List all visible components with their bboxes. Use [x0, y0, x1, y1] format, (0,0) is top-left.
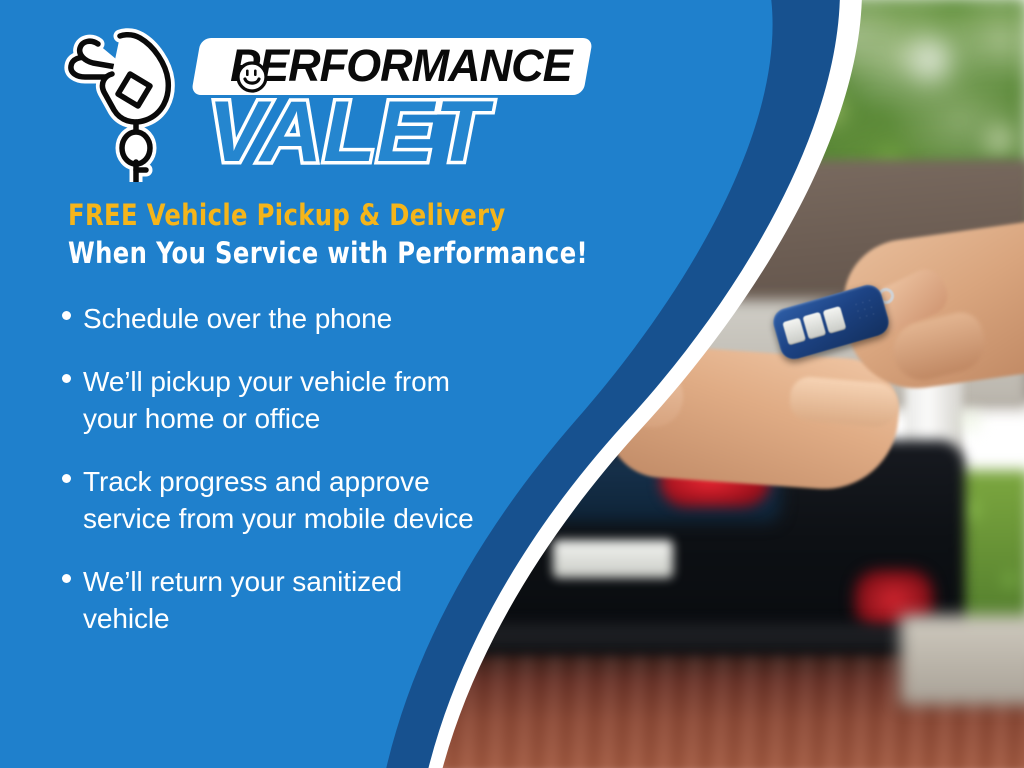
- bullet-dot-icon: [62, 374, 71, 383]
- list-item: Track progress and approve service from …: [62, 463, 582, 537]
- performance-valet-logo[interactable]: PERFORMANCE VALET: [58, 18, 618, 183]
- list-item: Schedule over the phone: [62, 300, 582, 337]
- list-item-label: We’ll pickup your vehicle from your home…: [83, 363, 483, 437]
- headline-block: FREE Vehicle Pickup & Delivery When You …: [68, 196, 668, 272]
- logo-wordmark-valet: VALET: [198, 84, 499, 180]
- logo-valet-text: VALET: [208, 84, 489, 180]
- bullet-dot-icon: [62, 311, 71, 320]
- list-item-label: Track progress and approve service from …: [83, 463, 513, 537]
- promo-banner: PERFORMANCE VALET FREE Vehicle Pickup & …: [0, 0, 1024, 768]
- smiley-face-icon: [234, 59, 270, 95]
- headline-line-2: When You Service with Performance!: [68, 234, 626, 272]
- list-item: We’ll return your sanitized vehicle: [62, 563, 582, 637]
- bullet-dot-icon: [62, 574, 71, 583]
- hand-holding-key-icon: [58, 22, 208, 182]
- list-item-label: Schedule over the phone: [83, 300, 392, 337]
- bullet-dot-icon: [62, 474, 71, 483]
- benefits-list: Schedule over the phone We’ll pickup you…: [62, 300, 582, 663]
- banner-content: PERFORMANCE VALET FREE Vehicle Pickup & …: [0, 0, 700, 768]
- list-item-label: We’ll return your sanitized vehicle: [83, 563, 463, 637]
- list-item: We’ll pickup your vehicle from your home…: [62, 363, 582, 437]
- headline-line-1: FREE Vehicle Pickup & Delivery: [68, 196, 626, 234]
